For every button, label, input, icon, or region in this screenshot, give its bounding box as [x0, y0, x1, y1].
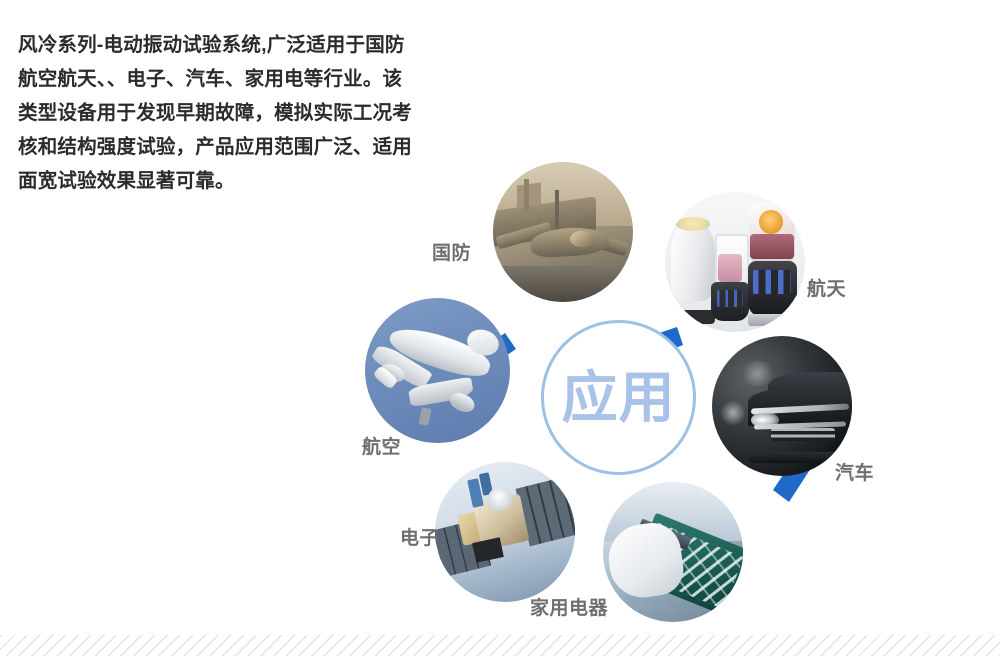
airplane-photo [365, 298, 510, 443]
aerospace-image[interactable] [665, 192, 805, 332]
page-root: 风冷系列-电动振动试验系统,广泛适用于国防航空航天、、电子、汽车、家用电等行业。… [0, 0, 1000, 656]
bottom-hatch-strip [0, 635, 1000, 656]
satellite-photo [435, 462, 575, 602]
aerospace-label: 航天 [807, 274, 846, 301]
fighter-jet-carrier-photo [493, 162, 633, 302]
aviation-label: 航空 [362, 432, 401, 459]
automobile-image[interactable] [712, 336, 852, 476]
defense-image[interactable] [493, 162, 633, 302]
circuit-board-gloved-hand-photo [603, 482, 743, 622]
center-node: 应用 [541, 320, 696, 475]
electronics-label: 电子 [400, 523, 439, 550]
kitchen-appliances-photo [665, 192, 805, 332]
defense-label: 国防 [432, 238, 471, 265]
center-label: 应用 [562, 370, 676, 426]
application-wheel-diagram: 应用 国防 [345, 150, 905, 640]
aviation-image[interactable] [365, 298, 510, 443]
appliance-image[interactable] [603, 482, 743, 622]
automobile-label: 汽车 [835, 458, 874, 485]
electronics-image[interactable] [435, 462, 575, 602]
car-front-photo [712, 336, 852, 476]
